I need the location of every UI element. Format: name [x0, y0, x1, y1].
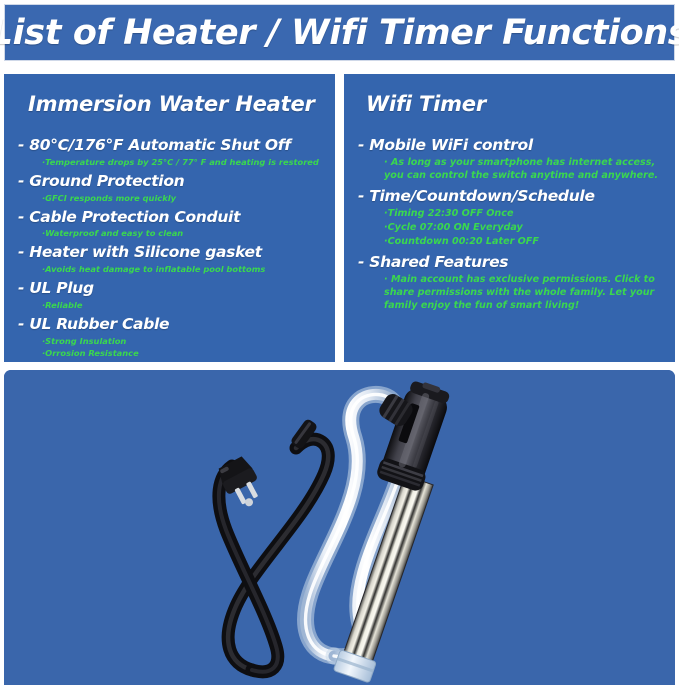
- feature-item: - Shared Features · Main account has exc…: [358, 253, 663, 312]
- feature-title: - UL Rubber Cable: [18, 315, 323, 335]
- feature-subtext: ·Avoids heat damage to inflatable pool b…: [42, 264, 323, 275]
- feature-subtext: ·Timing 22:30 OFF Once: [384, 208, 663, 221]
- feature-item: - Ground Protection ·GFCI responds more …: [18, 172, 323, 204]
- feature-item: - UL Rubber Cable ·Strong Insulation ·Or…: [18, 315, 323, 359]
- product-photo-panel: [4, 370, 675, 685]
- panel-immersion-water-heater: Immersion Water Heater - 80°C/176°F Auto…: [4, 74, 335, 362]
- feature-title: - Mobile WiFi control: [358, 136, 663, 156]
- feature-title: - Ground Protection: [18, 172, 323, 192]
- feature-subtext: ·GFCI responds more quickly: [42, 193, 323, 204]
- feature-item: - Mobile WiFi control · As long as your …: [358, 136, 663, 182]
- feature-item: - Heater with Silicone gasket ·Avoids he…: [18, 243, 323, 275]
- feature-title: - Cable Protection Conduit: [18, 208, 323, 228]
- feature-subtext: ·Strong Insulation: [42, 336, 323, 347]
- panel-heading-right: Wifi Timer: [366, 92, 663, 116]
- product-photo: [4, 370, 675, 685]
- header-banner: List of Heater / Wifi Timer Functions: [4, 4, 675, 61]
- page-title: List of Heater / Wifi Timer Functions: [0, 13, 679, 53]
- infographic-page: List of Heater / Wifi Timer Functions Im…: [0, 0, 679, 685]
- panel-heading-left: Immersion Water Heater: [28, 92, 323, 116]
- feature-title: - UL Plug: [18, 279, 323, 299]
- feature-subtext: ·Waterproof and easy to clean: [42, 228, 323, 239]
- feature-subtext: ·Cycle 07:00 ON Everyday: [384, 222, 663, 235]
- feature-title: - Time/Countdown/Schedule: [358, 187, 663, 207]
- feature-item: - 80°C/176°F Automatic Shut Off ·Tempera…: [18, 136, 323, 168]
- feature-subtext: ·Reliable: [42, 300, 323, 311]
- feature-title: - 80°C/176°F Automatic Shut Off: [18, 136, 323, 156]
- panel-wifi-timer: Wifi Timer - Mobile WiFi control · As lo…: [344, 74, 675, 362]
- feature-item: - Time/Countdown/Schedule ·Timing 22:30 …: [358, 187, 663, 248]
- feature-item: - UL Plug ·Reliable: [18, 279, 323, 311]
- feature-subtext: · Main account has exclusive permissions…: [384, 274, 663, 312]
- feature-subtext: ·Countdown 00:20 Later OFF: [384, 236, 663, 249]
- feature-subtext: · As long as your smartphone has interne…: [384, 157, 663, 183]
- feature-subtext: ·Temperature drops by 25°C / 77° F and h…: [42, 157, 323, 168]
- feature-subtext: ·Orrosion Resistance: [42, 348, 323, 359]
- feature-title: - Heater with Silicone gasket: [18, 243, 323, 263]
- feature-item: - Cable Protection Conduit ·Waterproof a…: [18, 208, 323, 240]
- feature-title: - Shared Features: [358, 253, 663, 273]
